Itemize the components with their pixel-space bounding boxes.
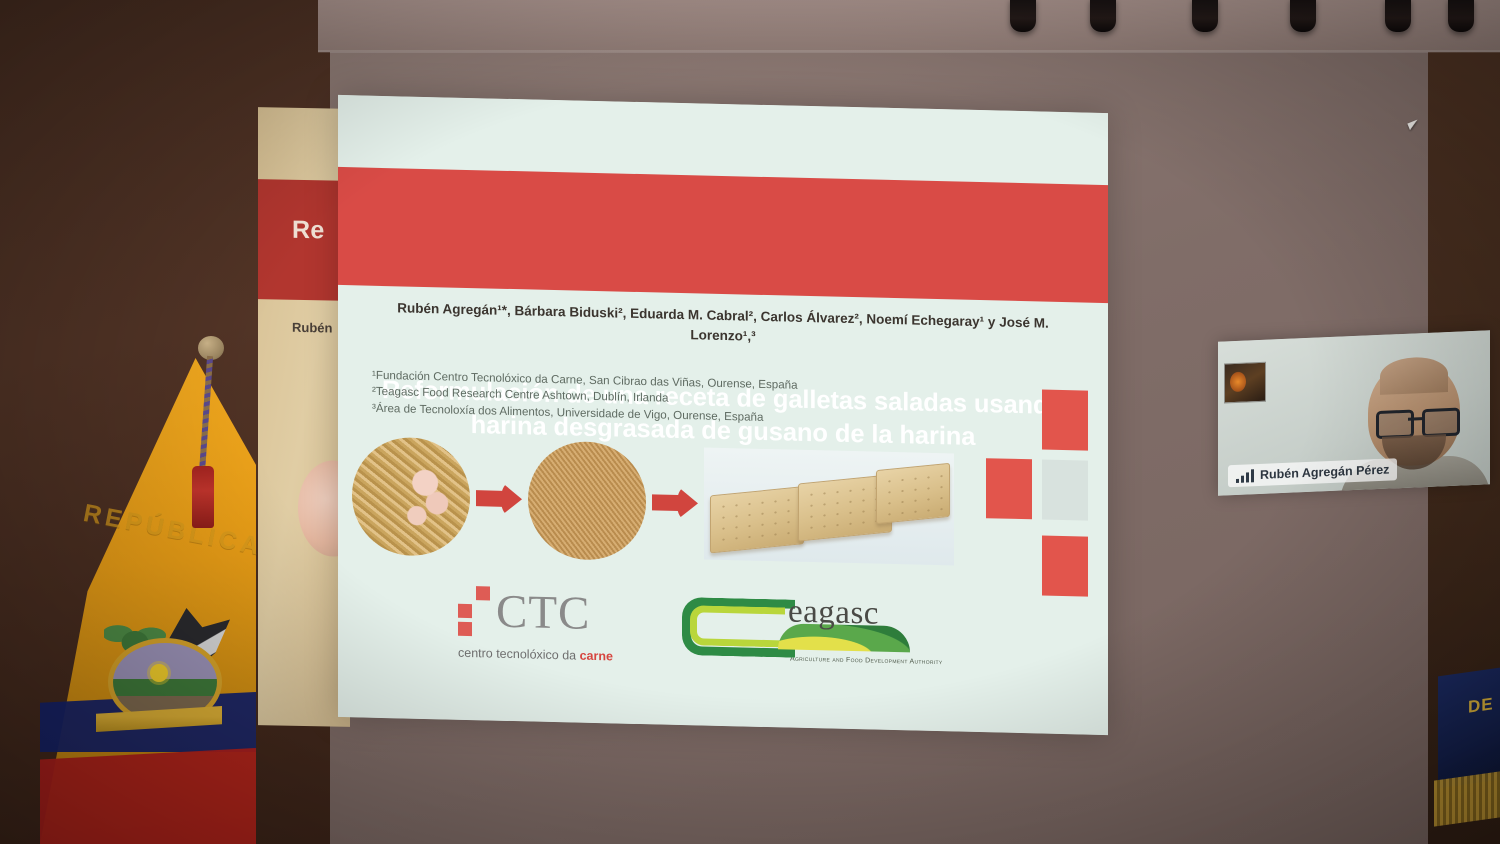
- presentation-slide: Reformulación de una receta de galletas …: [338, 95, 1108, 735]
- process-diagram: [352, 429, 992, 576]
- spotlight-3: [1192, 0, 1218, 32]
- banner-fringe: [1434, 771, 1500, 826]
- right-arrow-icon-2: [652, 485, 698, 520]
- ctc-tagline: centro tecnolóxico da carne: [458, 646, 638, 664]
- decor-square-2: [986, 458, 1032, 519]
- spill-title-fragment: Re: [292, 216, 325, 246]
- decor-square-4: [1042, 536, 1088, 597]
- slide-logos: CTC centro tecnolóxico da carne eagasc A…: [458, 586, 978, 708]
- coat-of-arms: [82, 602, 232, 742]
- spill-authors-fragment: Rubén: [292, 320, 332, 336]
- self-view-thumbnail[interactable]: [1224, 362, 1266, 404]
- side-banner: DE: [1422, 672, 1500, 844]
- spotlight-2: [1090, 0, 1116, 32]
- spotlight-4: [1290, 0, 1316, 32]
- teagasc-mark-icon: eagasc: [682, 591, 912, 654]
- crackers-photo: [704, 448, 954, 566]
- mealworms-photo: [352, 436, 470, 557]
- decor-square-3: [1042, 460, 1088, 521]
- mealworm-flour-photo: [528, 440, 646, 561]
- ctc-tagline-accent: carne: [580, 649, 613, 664]
- glasses-icon: [1374, 408, 1458, 434]
- ceremonial-tassel: [192, 466, 214, 528]
- ceiling-edge: [318, 50, 1500, 53]
- video-conference-panel[interactable]: Rubén Agregán Pérez: [1218, 330, 1490, 495]
- right-arrow-icon: [476, 481, 522, 516]
- ceiling: [318, 0, 1500, 52]
- sun-icon: [150, 664, 168, 682]
- ecuador-flag: REPÚBLICA: [30, 330, 280, 844]
- spotlight-1: [1010, 0, 1036, 32]
- signal-bars-icon: [1236, 469, 1254, 483]
- ctc-squares-icon: [458, 586, 490, 637]
- flag-stripe-red: [40, 748, 256, 844]
- teagasc-tagline: Agriculture and Food Development Authori…: [790, 656, 912, 666]
- teagasc-wordmark: eagasc: [788, 594, 879, 633]
- ctc-logo: CTC centro tecnolóxico da carne: [458, 586, 638, 664]
- banner-text: DE: [1468, 694, 1494, 718]
- teagasc-logo: eagasc Agriculture and Food Development …: [682, 591, 912, 665]
- banner-cloth: [1438, 668, 1500, 789]
- spotlight-5: [1385, 0, 1411, 32]
- participant-name: Rubén Agregán Pérez: [1260, 463, 1389, 482]
- ctc-wordmark: CTC: [496, 588, 590, 637]
- screenshot-root: Re Rubén Reformulación de una receta de …: [0, 0, 1500, 844]
- ctc-tagline-prefix: centro tecnolóxico da: [458, 646, 580, 663]
- decor-square-1: [1042, 390, 1088, 451]
- projection-screen: Reformulación de una receta de galletas …: [338, 95, 1108, 735]
- spotlight-6: [1448, 0, 1474, 32]
